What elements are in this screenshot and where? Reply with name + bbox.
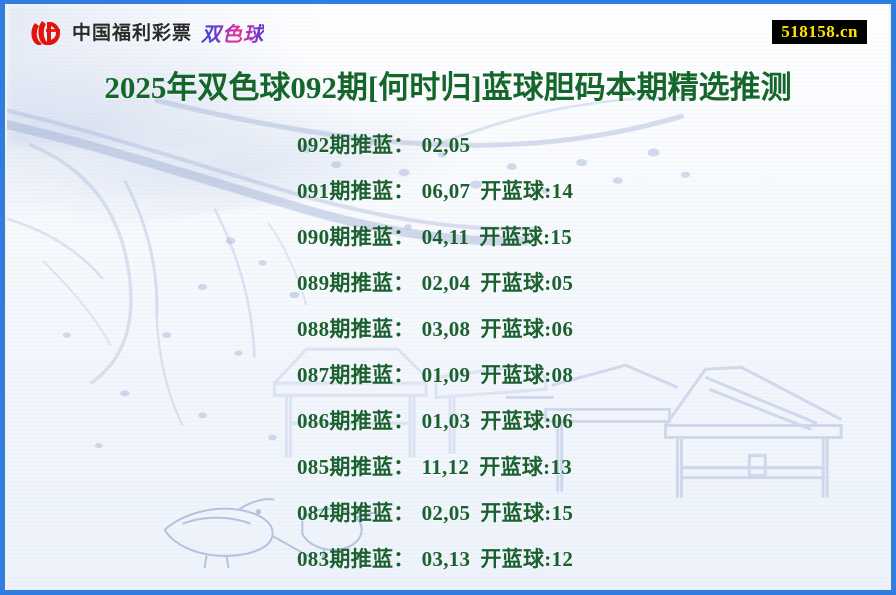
row-draw-result: 开蓝球:06 bbox=[480, 409, 573, 433]
row-draw-result: 开蓝球:12 bbox=[480, 547, 573, 571]
list-item: 083期推蓝：03,13开蓝球:12 bbox=[7, 536, 889, 582]
row-draw-result: 开蓝球:05 bbox=[480, 271, 573, 295]
row-picks-value: 02,05 bbox=[422, 501, 471, 525]
row-draw-result: 开蓝球:15 bbox=[480, 501, 573, 525]
row-picks-value: 02,05 bbox=[422, 133, 471, 157]
brand-logo[interactable]: 中国福利彩票 双色球 bbox=[29, 20, 264, 47]
row-picks-value: 04,11 bbox=[422, 225, 470, 249]
page-title: 2025年双色球092期[何时归]蓝球胆码本期精选推测 bbox=[7, 62, 889, 107]
row-picks-value: 06,07 bbox=[422, 179, 471, 203]
row-issue-label: 086期推蓝： bbox=[297, 409, 415, 433]
row-draw-result: 开蓝球:08 bbox=[480, 363, 573, 387]
china-welfare-lottery-mark-icon bbox=[29, 20, 63, 47]
row-picks-value: 01,09 bbox=[422, 363, 471, 387]
row-picks-value: 01,03 bbox=[422, 409, 471, 433]
row-draw-result: 开蓝球:13 bbox=[479, 455, 572, 479]
row-issue-label: 092期推蓝： bbox=[297, 133, 415, 157]
row-draw-result: 开蓝球:14 bbox=[480, 179, 573, 203]
site-watermark: 518158.cn bbox=[772, 20, 867, 44]
row-draw-result: 开蓝球:06 bbox=[480, 317, 573, 341]
row-issue-label: 087期推蓝： bbox=[297, 363, 415, 387]
row-issue-label: 084期推蓝： bbox=[297, 501, 415, 525]
list-item: 089期推蓝：02,04开蓝球:05 bbox=[7, 260, 889, 306]
list-item: 087期推蓝：01,09开蓝球:08 bbox=[7, 352, 889, 398]
row-picks-value: 03,13 bbox=[422, 547, 471, 571]
brand-game-label: 双色球 bbox=[201, 24, 264, 44]
list-item: 090期推蓝：04,11开蓝球:15 bbox=[7, 214, 889, 260]
row-issue-label: 091期推蓝： bbox=[297, 179, 415, 203]
site-header: 中国福利彩票 双色球 518158.cn bbox=[7, 4, 889, 50]
row-issue-label: 090期推蓝： bbox=[297, 225, 415, 249]
row-draw-result: 开蓝球:15 bbox=[479, 225, 572, 249]
list-item: 086期推蓝：01,03开蓝球:06 bbox=[7, 398, 889, 444]
row-issue-label: 085期推蓝： bbox=[297, 455, 415, 479]
list-item: 084期推蓝：02,05开蓝球:15 bbox=[7, 490, 889, 536]
page-frame: 中国福利彩票 双色球 518158.cn 2025年双色球092期[何时归]蓝球… bbox=[0, 0, 896, 595]
list-item: 092期推蓝：02,05 bbox=[7, 122, 889, 168]
list-item: 091期推蓝：06,07开蓝球:14 bbox=[7, 168, 889, 214]
row-picks-value: 11,12 bbox=[422, 455, 470, 479]
row-issue-label: 088期推蓝： bbox=[297, 317, 415, 341]
row-picks-value: 03,08 bbox=[422, 317, 471, 341]
row-issue-label: 083期推蓝： bbox=[297, 547, 415, 571]
prediction-list: 092期推蓝：02,05 091期推蓝：06,07开蓝球:14 090期推蓝：0… bbox=[7, 122, 889, 582]
brand-name-label: 中国福利彩票 bbox=[72, 24, 192, 43]
list-item: 085期推蓝：11,12开蓝球:13 bbox=[7, 444, 889, 490]
row-issue-label: 089期推蓝： bbox=[297, 271, 415, 295]
list-item: 088期推蓝：03,08开蓝球:06 bbox=[7, 306, 889, 352]
page-inner-border: 中国福利彩票 双色球 518158.cn 2025年双色球092期[何时归]蓝球… bbox=[5, 4, 891, 590]
row-picks-value: 02,04 bbox=[422, 271, 471, 295]
